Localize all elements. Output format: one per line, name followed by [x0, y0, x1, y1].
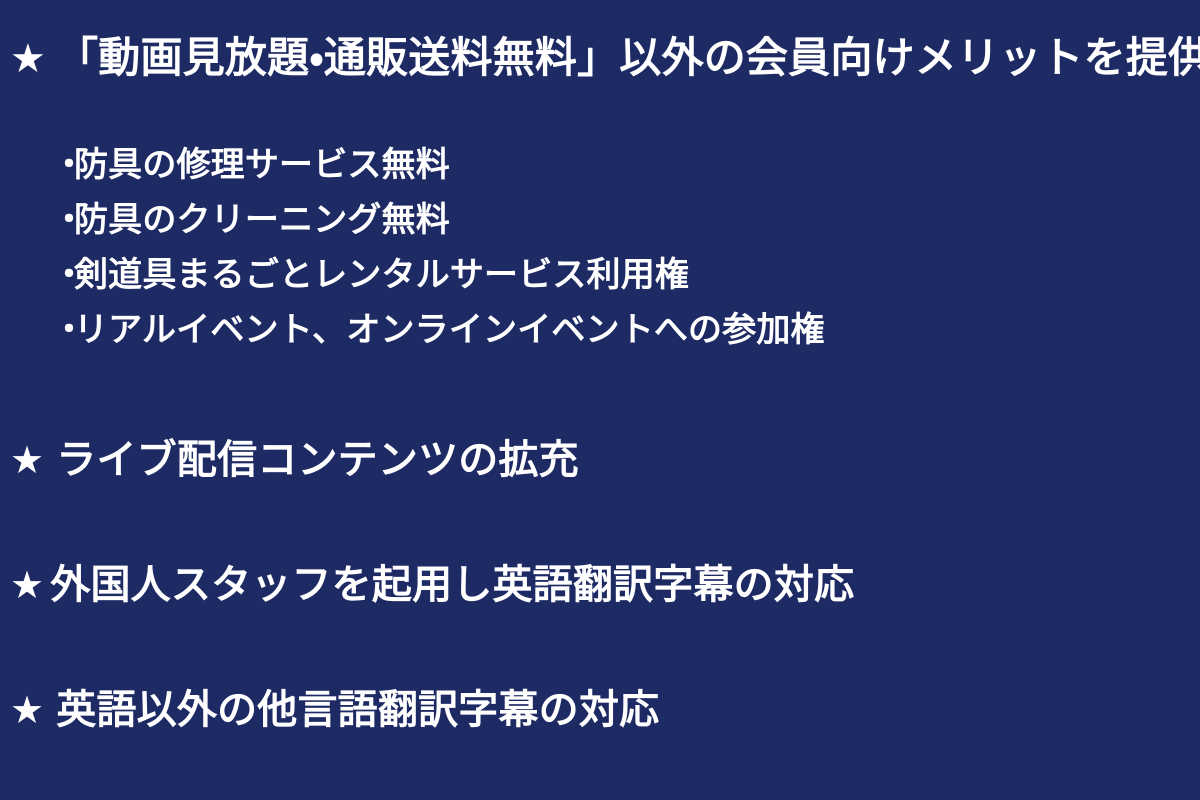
slide-title-text: 「動画見放題・通販送料無料」以外の会員向けメリットを提供	[56, 34, 1200, 81]
list-item-label: 防具のクリーニング無料	[74, 203, 450, 237]
heading-live-streaming-text: ライブ配信コンテンツの拡充	[56, 438, 579, 483]
list-item: ・ 防具のクリーニング無料	[52, 203, 825, 258]
heading-other-language-subtitles-text: 英語以外の他言語翻訳字幕の対応	[56, 688, 659, 733]
heading-english-subtitles-text: 外国人スタッフを起用し英語翻訳字幕の対応	[50, 563, 854, 608]
star-icon: ★	[10, 567, 44, 605]
star-icon: ★	[10, 692, 44, 730]
list-item: ・ 防具の修理サービス無料	[52, 148, 825, 203]
list-item: ・ リアルイベント、オンラインイベントへの参加権	[52, 313, 825, 368]
star-icon: ★	[10, 442, 44, 480]
benefits-list: ・ 防具の修理サービス無料 ・ 防具のクリーニング無料 ・ 剣道具まるごとレンタ…	[52, 148, 825, 368]
bullet-dot-icon: ・	[52, 148, 74, 182]
heading-other-language-subtitles: ★ 英語以外の他言語翻訳字幕の対応	[10, 688, 659, 733]
bullet-dot-icon: ・	[52, 203, 74, 237]
star-icon: ★	[10, 39, 46, 79]
bullet-dot-icon: ・	[52, 258, 74, 292]
slide-canvas: ★ 「動画見放題・通販送料無料」以外の会員向けメリットを提供 ・ 防具の修理サー…	[0, 0, 1200, 800]
list-item: ・ 剣道具まるごとレンタルサービス利用権	[52, 258, 825, 313]
slide-title: ★ 「動画見放題・通販送料無料」以外の会員向けメリットを提供	[10, 34, 1200, 81]
list-item-label: リアルイベント、オンラインイベントへの参加権	[74, 313, 825, 347]
list-item-label: 剣道具まるごとレンタルサービス利用権	[74, 258, 689, 292]
bullet-dot-icon: ・	[52, 313, 74, 347]
heading-english-subtitles: ★ 外国人スタッフを起用し英語翻訳字幕の対応	[10, 563, 854, 608]
heading-live-streaming: ★ ライブ配信コンテンツの拡充	[10, 438, 579, 483]
list-item-label: 防具の修理サービス無料	[74, 148, 450, 182]
